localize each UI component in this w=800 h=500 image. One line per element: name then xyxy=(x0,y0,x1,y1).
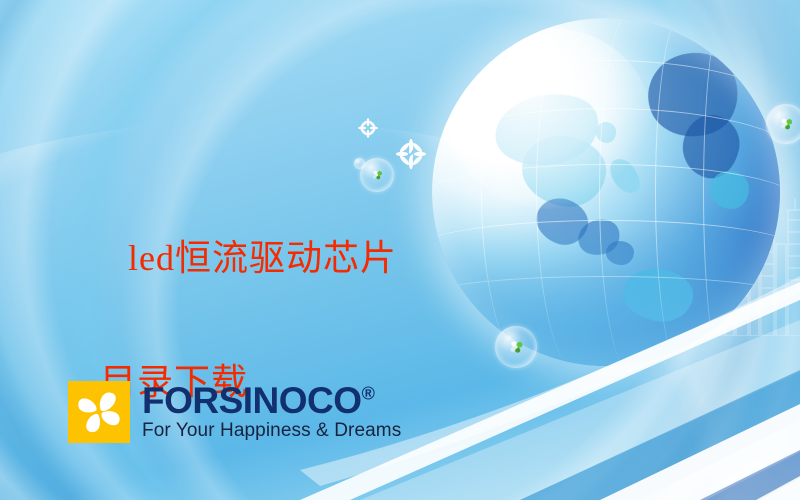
sparkle-upper-icon xyxy=(358,118,378,138)
brand-tagline: For Your Happiness & Dreams xyxy=(142,420,401,442)
registered-trademark-symbol: ® xyxy=(362,383,375,403)
earth-globe xyxy=(432,18,780,366)
marketing-banner: led恒流驱动芯片 目录下载 FORSINOCO® For Your Happi… xyxy=(0,0,800,500)
sparkle-lower-icon xyxy=(396,139,426,169)
globe-rim xyxy=(432,18,780,366)
page-title: led恒流驱动芯片 目录下载 xyxy=(88,165,397,500)
logo-mark xyxy=(68,381,130,443)
page-title-line-1: led恒流驱动芯片 xyxy=(128,238,397,278)
logo-text-block: FORSINOCO® For Your Happiness & Dreams xyxy=(142,383,401,442)
brand-logo: FORSINOCO® For Your Happiness & Dreams xyxy=(68,381,401,443)
brand-wordmark: FORSINOCO® xyxy=(142,383,401,419)
four-petal-flower-icon xyxy=(68,381,130,443)
brand-name: FORSINOCO xyxy=(142,380,362,421)
